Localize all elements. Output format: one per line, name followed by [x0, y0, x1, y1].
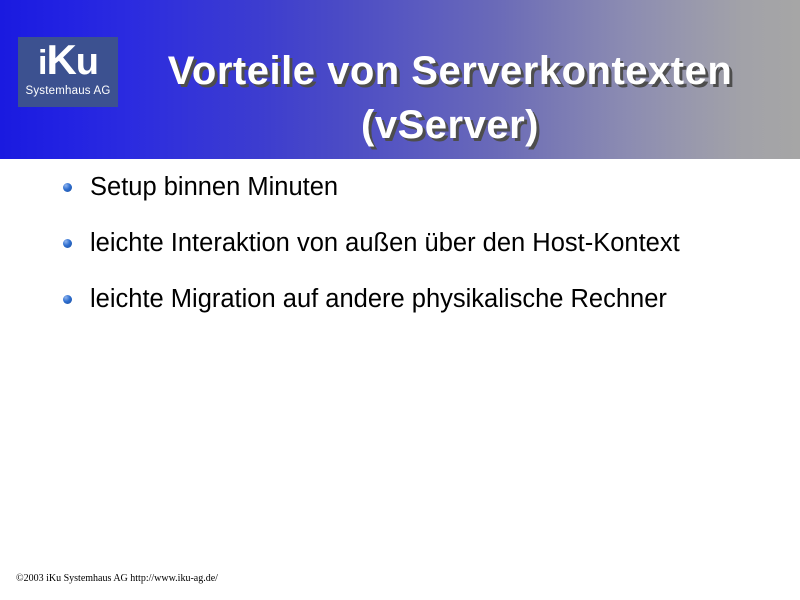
list-item-label: Setup binnen Minuten: [90, 173, 338, 201]
slide-footer-copyright: ©2003 iKu Systemhaus AG http://www.iku-a…: [16, 573, 218, 585]
bullet-list: Setup binnen Minuten leichte Interaktion…: [0, 168, 800, 318]
slide-title-line-1: Vorteile von Serverkontexten: [168, 49, 733, 93]
slide-title: Vorteile von Serverkontexten (vServer): [112, 44, 788, 152]
slide-title-line-2: (vServer): [112, 98, 788, 152]
list-item-label: leichte Interaktion von außen über den H…: [90, 229, 680, 257]
iku-logo: iKu Systemhaus AG: [18, 37, 118, 107]
presentation-slide: iKu Systemhaus AG Vorteile von Serverkon…: [0, 0, 800, 600]
bullet-point-icon: [63, 295, 72, 304]
logo-wordmark: iKu: [18, 35, 118, 85]
slide-content: Setup binnen Minuten leichte Interaktion…: [0, 159, 800, 559]
bullet-point-icon: [63, 183, 72, 192]
list-item: leichte Interaktion von außen über den H…: [0, 224, 790, 262]
list-item: leichte Migration auf andere physikalisc…: [0, 280, 790, 318]
bullet-point-icon: [63, 239, 72, 248]
list-item-label: leichte Migration auf andere physikalisc…: [90, 285, 667, 313]
logo-letter-k: K: [46, 36, 75, 83]
list-item: Setup binnen Minuten: [0, 168, 790, 206]
logo-letter-u: u: [76, 41, 98, 83]
slide-header-banner: iKu Systemhaus AG Vorteile von Serverkon…: [0, 0, 800, 159]
logo-subtitle: Systemhaus AG: [18, 84, 118, 98]
